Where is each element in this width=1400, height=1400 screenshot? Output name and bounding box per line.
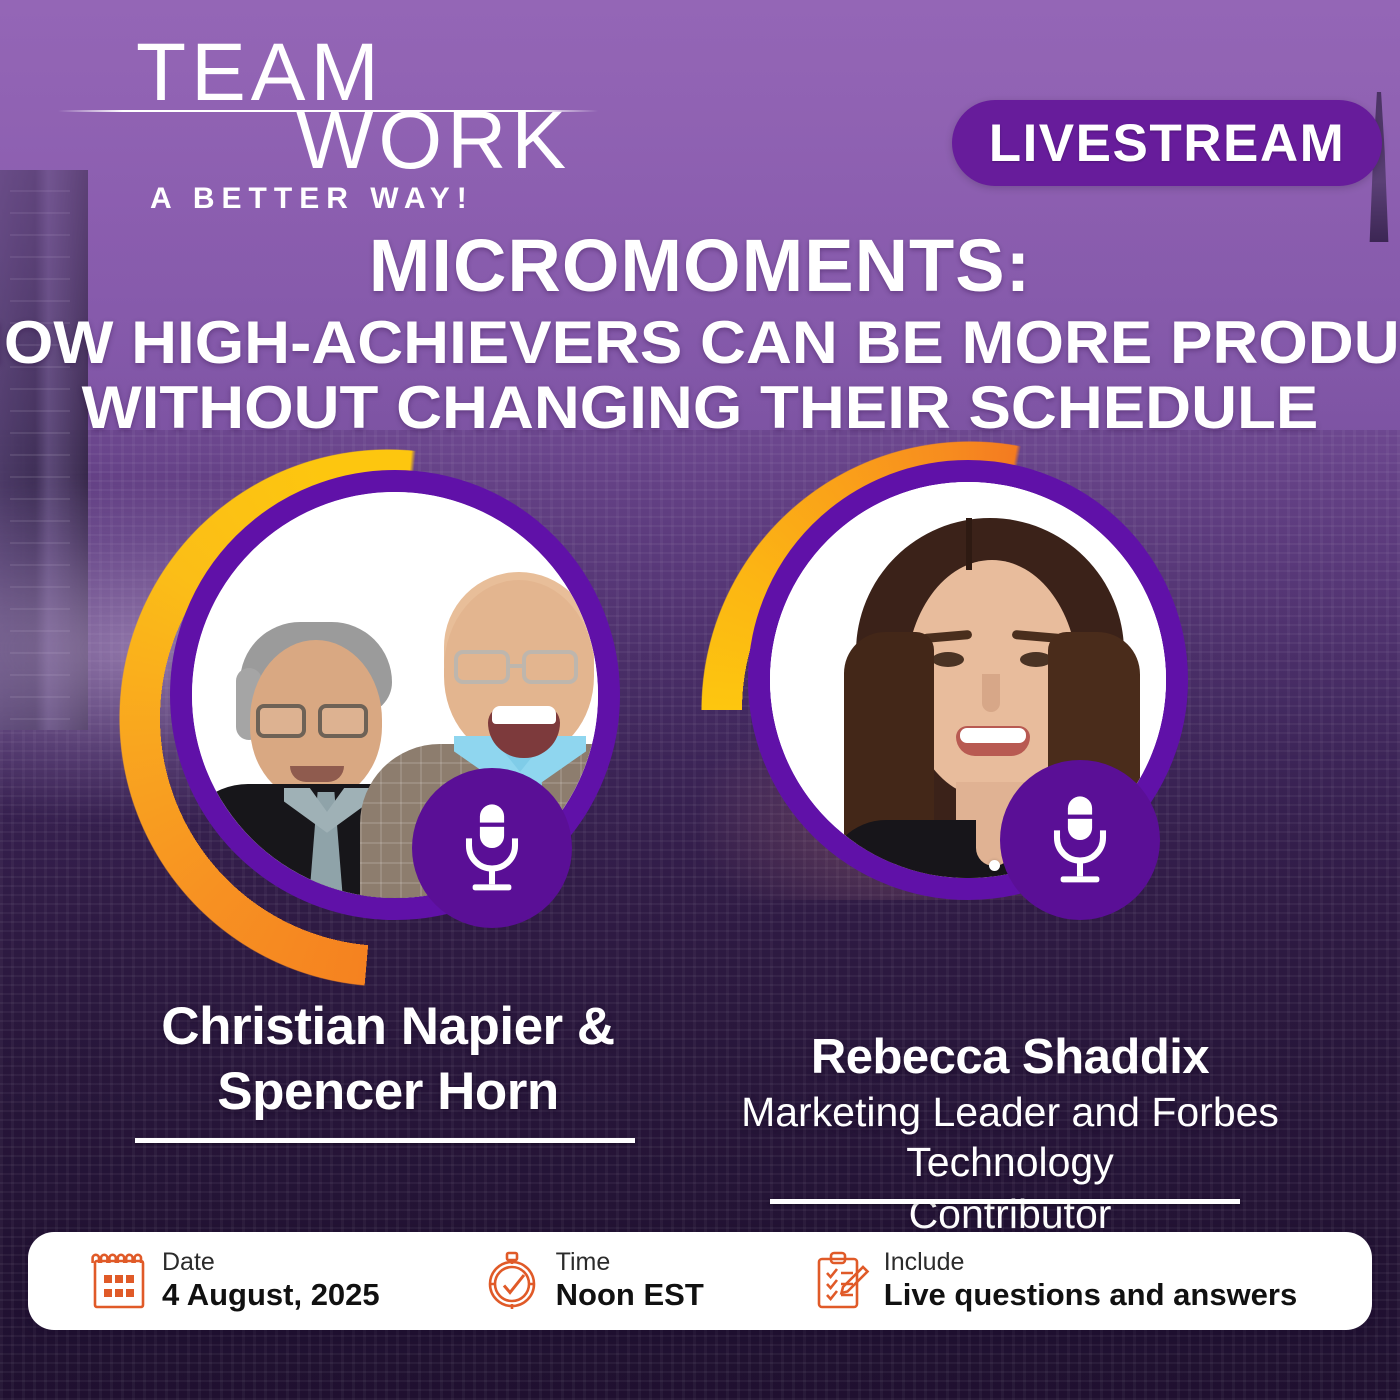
logo-tagline: A BETTER WAY! <box>150 182 474 216</box>
livestream-badge: LIVESTREAM <box>952 100 1382 186</box>
livestream-badge-label: LIVESTREAM <box>989 113 1346 174</box>
event-detail-include: Include Live questions and answers <box>812 1248 1297 1313</box>
time-label: Time <box>556 1248 704 1277</box>
date-value: 4 August, 2025 <box>162 1277 380 1314</box>
speaker-left-underline <box>135 1138 635 1143</box>
event-details-bar: Date 4 August, 2025 Time Noon EST <box>28 1232 1372 1330</box>
event-title: MICROMOMENTS: HOW HIGH-ACHIEVERS CAN BE … <box>0 228 1400 441</box>
stopwatch-icon <box>484 1251 542 1311</box>
speaker-right-name: Rebecca Shaddix <box>650 1030 1370 1085</box>
calendar-icon <box>90 1251 148 1311</box>
portrait-glasses-left <box>256 704 306 738</box>
microphone-badge-left <box>412 768 572 928</box>
microphone-icon <box>455 802 529 894</box>
speaker-photo-right <box>700 440 1260 1000</box>
portrait2-glasses-bridge <box>508 664 526 668</box>
portrait-hair-part <box>966 518 972 570</box>
speaker-left-info: Christian Napier & Spencer Horn <box>78 995 698 1124</box>
microphone-badge-right <box>1000 760 1160 920</box>
title-line-2: HOW HIGH-ACHIEVERS CAN BE MORE PRODUCTIV… <box>0 311 1400 376</box>
logo-line-work: WORK <box>296 100 571 182</box>
event-detail-date: Date 4 August, 2025 <box>90 1248 380 1313</box>
title-line-1: MICROMOMENTS: <box>0 228 1400 305</box>
title-line-3: WITHOUT CHANGING THEIR SCHEDULE <box>0 376 1400 441</box>
brand-logo: TEAM WORK A BETTER WAY! <box>118 22 588 212</box>
speaker-right-role-line1: Marketing Leader and Forbes Technology <box>650 1087 1370 1187</box>
portrait-nose <box>982 674 1000 712</box>
event-detail-time: Time Noon EST <box>484 1248 704 1313</box>
speaker-left-name-line2: Spencer Horn <box>78 1060 698 1125</box>
portrait-glasses-right <box>318 704 368 738</box>
portrait-necklace <box>989 860 1000 871</box>
clipboard-checklist-icon <box>812 1251 870 1311</box>
microphone-icon <box>1043 794 1117 886</box>
portrait-mouth <box>290 766 344 782</box>
speaker-right-info: Rebecca Shaddix Marketing Leader and For… <box>650 1030 1370 1239</box>
speaker-photo-left <box>118 448 678 1008</box>
speaker-left-name-line1: Christian Napier & <box>78 995 698 1060</box>
portrait2-teeth <box>492 706 556 724</box>
include-value: Live questions and answers <box>884 1277 1297 1314</box>
portrait2-glasses-right <box>522 650 578 684</box>
include-label: Include <box>884 1248 1297 1277</box>
speaker-right-underline <box>770 1199 1240 1204</box>
event-promo-poster: TEAM WORK A BETTER WAY! LIVESTREAM MICRO… <box>0 0 1400 1400</box>
portrait-teeth <box>960 728 1026 743</box>
date-label: Date <box>162 1248 380 1277</box>
portrait2-glasses-left <box>454 650 510 684</box>
portrait-eye-left <box>932 652 964 667</box>
time-value: Noon EST <box>556 1277 704 1314</box>
